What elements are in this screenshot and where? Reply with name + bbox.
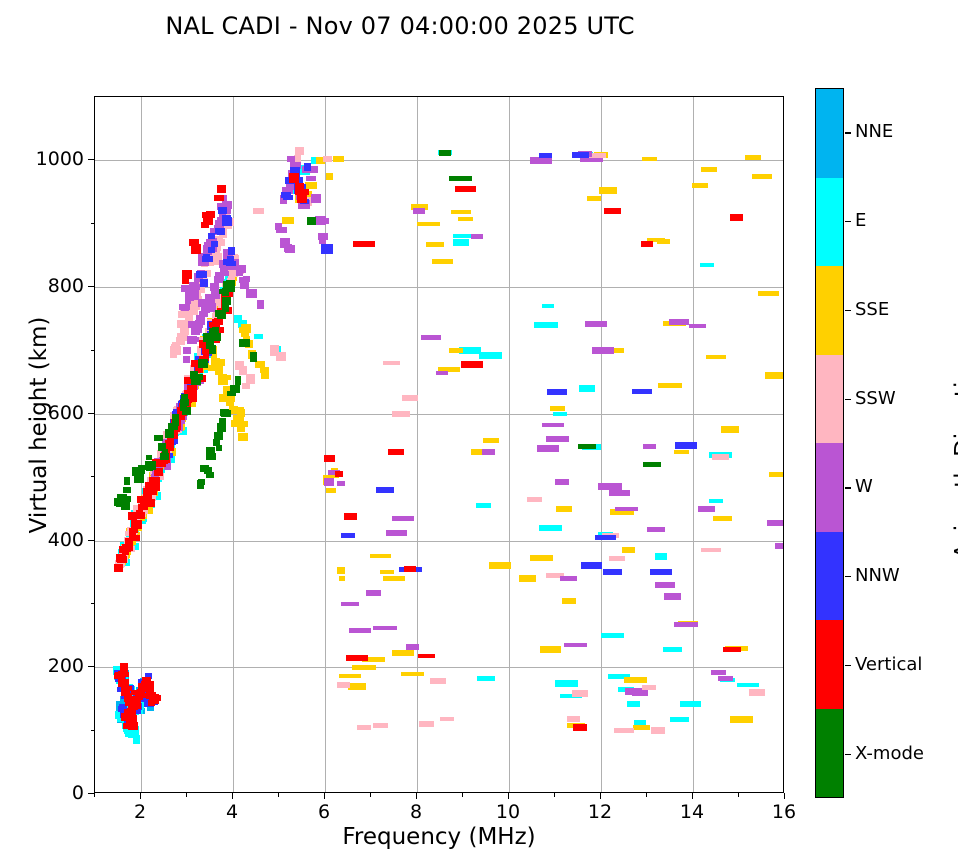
scatter-mark [128,732,134,739]
scatter-mark [556,506,572,513]
scatter-mark [227,391,236,396]
scatter-mark [154,435,163,441]
scatter-mark [297,194,307,203]
scatter-mark [572,690,588,697]
scatter-mark [289,173,299,183]
y-axis-label: Virtual height (km) [26,75,52,775]
scatter-mark [539,153,552,158]
x-axis-tick [508,793,509,799]
scatter-mark [706,355,726,360]
x-axis-tick-label: 8 [391,801,441,823]
page-title: NAL CADI - Nov 07 04:00:00 2025 UTC [0,12,800,40]
scatter-mark [187,312,194,318]
scatter-mark [138,504,148,511]
scatter-mark [208,247,215,253]
scatter-mark [373,626,397,631]
scatter-mark [226,261,236,266]
scatter-mark [116,554,125,562]
y-axis-tick [88,540,94,541]
scatter-mark [180,406,188,411]
scatter-mark [388,449,404,456]
scatter-mark [730,716,753,723]
colorbar-tick [845,310,851,311]
scatter-mark [769,472,784,477]
scatter-mark [125,496,132,502]
scatter-mark [191,330,200,335]
scatter-mark [238,433,248,441]
scatter-mark [123,487,131,494]
scatter-mark [220,409,229,416]
scatter-mark [295,147,304,155]
scatter-mark [124,477,130,486]
colorbar-segment-ssw [816,355,843,444]
scatter-mark [135,702,141,709]
scatter-mark [721,426,739,433]
scatter-mark [257,300,264,309]
scatter-mark [745,155,761,160]
x-axis-minor-tick [738,793,739,797]
y-axis-minor-tick [91,730,95,731]
scatter-mark [238,265,246,274]
x-axis-tick [692,793,693,799]
x-axis-tick [324,793,325,799]
scatter-mark [564,643,587,647]
x-axis-minor-tick [186,793,187,797]
scatter-mark [148,485,156,492]
scatter-mark [647,527,666,532]
scatter-mark [337,481,344,486]
scatter-mark [376,487,394,494]
x-axis-tick-label: 12 [575,801,625,823]
scatter-mark [366,590,381,596]
scatter-mark [573,724,587,730]
colorbar-label-x-mode: X-mode [855,745,924,763]
scatter-mark [527,497,543,502]
colorbar-label-vertical: Vertical [855,656,922,674]
colorbar-tick [845,132,851,133]
colorbar-tick [845,399,851,400]
scatter-mark [180,399,189,406]
scatter-mark [689,324,707,328]
scatter-mark [655,582,675,589]
scatter-mark [419,721,434,727]
scatter-mark [641,241,653,247]
scatter-mark [483,438,499,443]
scatter-mark [651,727,665,734]
scatter-mark [406,644,420,650]
scatter-mark [221,271,229,276]
scatter-mark [206,452,214,460]
scatter-mark [700,263,714,268]
x-axis-minor-tick [646,793,647,797]
scatter-mark [674,622,698,627]
scatter-mark [253,208,265,215]
scatter-mark [352,665,376,670]
scatter-mark [622,547,635,553]
scatter-mark [675,442,697,449]
y-axis-minor-tick [91,603,95,604]
scatter-mark [260,367,269,373]
scatter-mark [417,222,439,226]
scatter-mark [426,242,444,247]
scatter-mark [560,576,577,581]
scatter-mark [633,725,651,731]
scatter-mark [353,241,376,247]
scatter-mark [226,395,235,402]
scatter-mark [451,210,471,214]
scatter-mark [146,455,153,460]
scatter-mark [191,284,200,290]
scatter-mark [477,676,495,681]
colorbar-segment-nne [816,89,843,178]
colorbar-segment-nnw [816,532,843,621]
scatter-mark [674,450,688,455]
colorbar-tick [845,487,851,488]
scatter-mark [203,254,210,259]
scatter-mark [183,356,191,363]
scatter-mark [243,276,251,282]
scatter-mark [711,670,727,675]
scatter-mark [609,556,625,561]
scatter-mark [285,245,294,253]
scatter-mark [439,150,451,156]
scatter-mark [579,385,595,391]
scatter-mark [642,157,657,162]
colorbar-segment-sse [816,266,843,355]
scatter-mark [614,728,634,733]
scatter-mark [453,239,469,246]
scatter-mark [172,418,179,427]
scatter-mark [587,196,602,202]
scatter-mark [709,499,722,503]
scatter-mark [373,723,388,729]
x-axis-tick-label: 14 [667,801,717,823]
x-axis-tick [416,793,417,799]
y-axis-tick [88,793,94,794]
scatter-mark [222,303,229,312]
scatter-mark [333,156,344,161]
scatter-mark [209,345,217,354]
scatter-mark [580,158,603,162]
scatter-mark [203,334,212,342]
scatter-mark [346,655,368,661]
scatter-mark [758,291,779,297]
scatter-mark [198,479,205,485]
scatter-mark [181,394,188,399]
x-axis-minor-tick [278,793,279,797]
scatter-mark [765,372,784,379]
scatter-mark [370,554,391,558]
scatter-mark [218,207,227,214]
scatter-mark [307,217,317,225]
scatter-mark [624,677,648,684]
colorbar-label-nnw: NNW [855,567,900,585]
colorbar-segment-vertical [816,620,843,709]
colorbar-label-ssw: SSW [855,390,896,408]
scatter-mark [413,208,425,215]
scatter-mark [246,289,257,299]
scatter-mark [214,432,223,440]
x-axis-minor-tick [370,793,371,797]
scatter-mark [213,362,222,368]
scatter-mark [215,195,222,200]
x-axis-tick [784,793,785,799]
scatter-mark [199,315,205,323]
scatter-mark [752,174,773,180]
scatter-mark [235,361,244,369]
scatter-mark [553,412,567,416]
scatter-mark [206,447,215,453]
scatter-mark [632,389,652,394]
scatter-mark [657,239,670,244]
scatter-mark [200,271,208,278]
scatter-mark [287,156,295,162]
scatter-mark [357,725,371,730]
scatter-mark [449,176,472,181]
plot-area [94,96,784,793]
scatter-mark [319,218,329,224]
scatter-mark [337,682,351,689]
scatter-mark [567,716,580,722]
y-axis-tick-label: 0 [0,784,84,803]
scatter-mark [585,321,607,327]
scatter-mark [139,683,147,689]
scatter-mark [198,362,208,367]
scatter-mark [555,479,568,485]
colorbar-label-e: E [855,212,866,230]
scatter-mark [130,535,140,542]
scatter-mark [151,695,161,701]
scatter-mark [146,462,153,471]
scatter-mark [537,445,559,452]
scatter-mark [200,279,208,287]
scatter-mark [211,333,221,341]
scatter-mark [311,194,321,204]
colorbar-tick [845,576,851,577]
scatter-mark [349,628,371,633]
scatter-mark [430,678,447,684]
scatter-mark [172,342,180,349]
scatter-mark [392,650,414,656]
scatter-mark [578,444,596,449]
x-axis-tick-label: 4 [207,801,257,823]
scatter-mark [392,411,411,418]
scatter-mark [219,418,226,424]
colorbar-title: Azimuth Direction [951,106,958,806]
scatter-mark [324,455,335,462]
scatter-mark [306,176,316,181]
scatter-mark [643,462,661,467]
scatter-mark [604,208,620,215]
scatter-mark [217,185,227,193]
scatter-mark [737,683,759,688]
scatter-mark [655,553,667,560]
scatter-mark [147,499,155,507]
scatter-mark [392,516,414,521]
scatter-mark [210,283,218,291]
scatter-mark [615,507,639,511]
scatter-mark [131,525,138,533]
colorbar-label-sse: SSE [855,301,889,319]
scatter-mark [489,562,511,569]
scatter-mark [701,548,721,552]
scatter-mark [547,389,567,395]
scatter-mark [380,570,394,574]
scatter-mark [402,395,418,400]
scatter-mark [572,152,589,158]
scatter-mark [217,229,225,235]
scatter-mark [228,247,236,255]
scatter-mark [183,347,192,354]
scatter-mark [147,681,154,689]
scatter-mark [189,239,198,247]
y-axis-tick [88,286,94,287]
scatter-mark [455,186,476,192]
scatter-mark [749,689,765,696]
colorbar [815,88,844,798]
scatter-mark [775,543,784,549]
scatter-mark [599,187,617,194]
scatter-mark [121,668,128,676]
colorbar-label-nne: NNE [855,123,893,141]
scatter-mark [601,633,624,638]
scatter-mark [458,217,473,221]
scatter-mark [238,416,245,424]
scatter-mark [254,334,264,340]
scatter-mark [206,467,212,474]
scatter-mark [321,244,333,253]
scatter-mark [235,379,242,385]
scatter-mark [339,576,346,582]
x-axis-tick [140,793,141,799]
scatter-mark [216,445,222,451]
scatter-mark [530,555,553,561]
scatter-mark [239,340,249,347]
scatter-mark [335,471,343,477]
scatter-mark [482,449,496,455]
x-axis-minor-tick [462,793,463,797]
colorbar-label-w: W [855,478,873,496]
scatter-mark [276,352,286,361]
scatter-mark [592,347,614,353]
scatter-mark [534,322,558,329]
scatter-mark [242,383,250,389]
y-axis-minor-tick [91,350,95,351]
x-axis-tick [600,793,601,799]
y-axis-tick [88,413,94,414]
scatter-mark [165,429,174,438]
scatter-mark [542,304,554,308]
scatter-mark [383,361,401,365]
scatter-mark [221,375,231,380]
scatter-mark [453,234,472,238]
scatter-mark [627,701,641,707]
scatter-mark [539,525,562,532]
scatter-mark [701,167,717,172]
scatter-mark [236,407,244,415]
scatter-mark [595,535,616,541]
scatter-mark [401,672,424,676]
scatter-mark [234,315,242,323]
scatter-mark [185,297,191,304]
scatter-mark [341,533,355,539]
scatter-mark [461,361,483,367]
scatter-mark [632,690,648,696]
scatter-mark [540,646,560,653]
x-axis-tick-label: 6 [299,801,349,823]
y-axis-tick [88,159,94,160]
scatter-mark [344,513,357,520]
scatter-mark [128,722,137,730]
scatter-mark [348,683,366,690]
scatter-mark [202,212,209,219]
scatter-mark [670,717,689,722]
scatter-mark [341,602,359,607]
scatter-mark [136,510,143,519]
x-axis-minor-tick [554,793,555,797]
scatter-mark [383,576,406,581]
y-axis-minor-tick [91,476,95,477]
scatter-mark [208,233,215,240]
scatter-mark [323,156,332,163]
scatter-mark [326,488,336,493]
scatter-mark [609,490,631,497]
scatter-mark [723,647,741,653]
scatter-mark [713,516,732,521]
scatter-mark [432,259,453,264]
scatter-mark [643,444,656,449]
scatter-mark [250,352,257,362]
scatter-mark [170,350,176,358]
scatter-mark [476,503,492,508]
scatter-mark [125,542,133,550]
y-axis-minor-tick [91,223,95,224]
scatter-mark [562,598,576,604]
scatter-mark [440,717,455,721]
scatter-mark [177,336,184,342]
scatter-mark [190,393,197,402]
colorbar-segment-e [816,178,843,267]
colorbar-tick [845,221,851,222]
scatter-mark [114,498,124,506]
scatter-marks [95,97,783,792]
x-axis-tick-label: 2 [115,801,165,823]
scatter-mark [546,436,569,442]
scatter-mark [283,195,292,200]
colorbar-tick [845,754,851,755]
scatter-mark [712,454,729,460]
x-axis-label: Frequency (MHz) [94,824,784,850]
scatter-mark [326,173,334,180]
scatter-mark [201,222,210,228]
scatter-mark [680,701,701,707]
scatter-mark [767,520,784,526]
x-axis-tick-label: 16 [759,801,809,823]
scatter-mark [436,371,448,375]
scatter-mark [650,569,672,575]
scatter-mark [664,593,682,600]
scatter-mark [337,567,345,574]
scatter-mark [182,276,190,285]
scatter-mark [222,217,232,226]
x-axis-tick-label: 10 [483,801,533,823]
scatter-mark [180,327,189,335]
scatter-mark [339,674,361,678]
scatter-mark [239,327,249,333]
scatter-mark [304,163,311,171]
scatter-mark [471,234,483,240]
scatter-mark [663,647,682,653]
